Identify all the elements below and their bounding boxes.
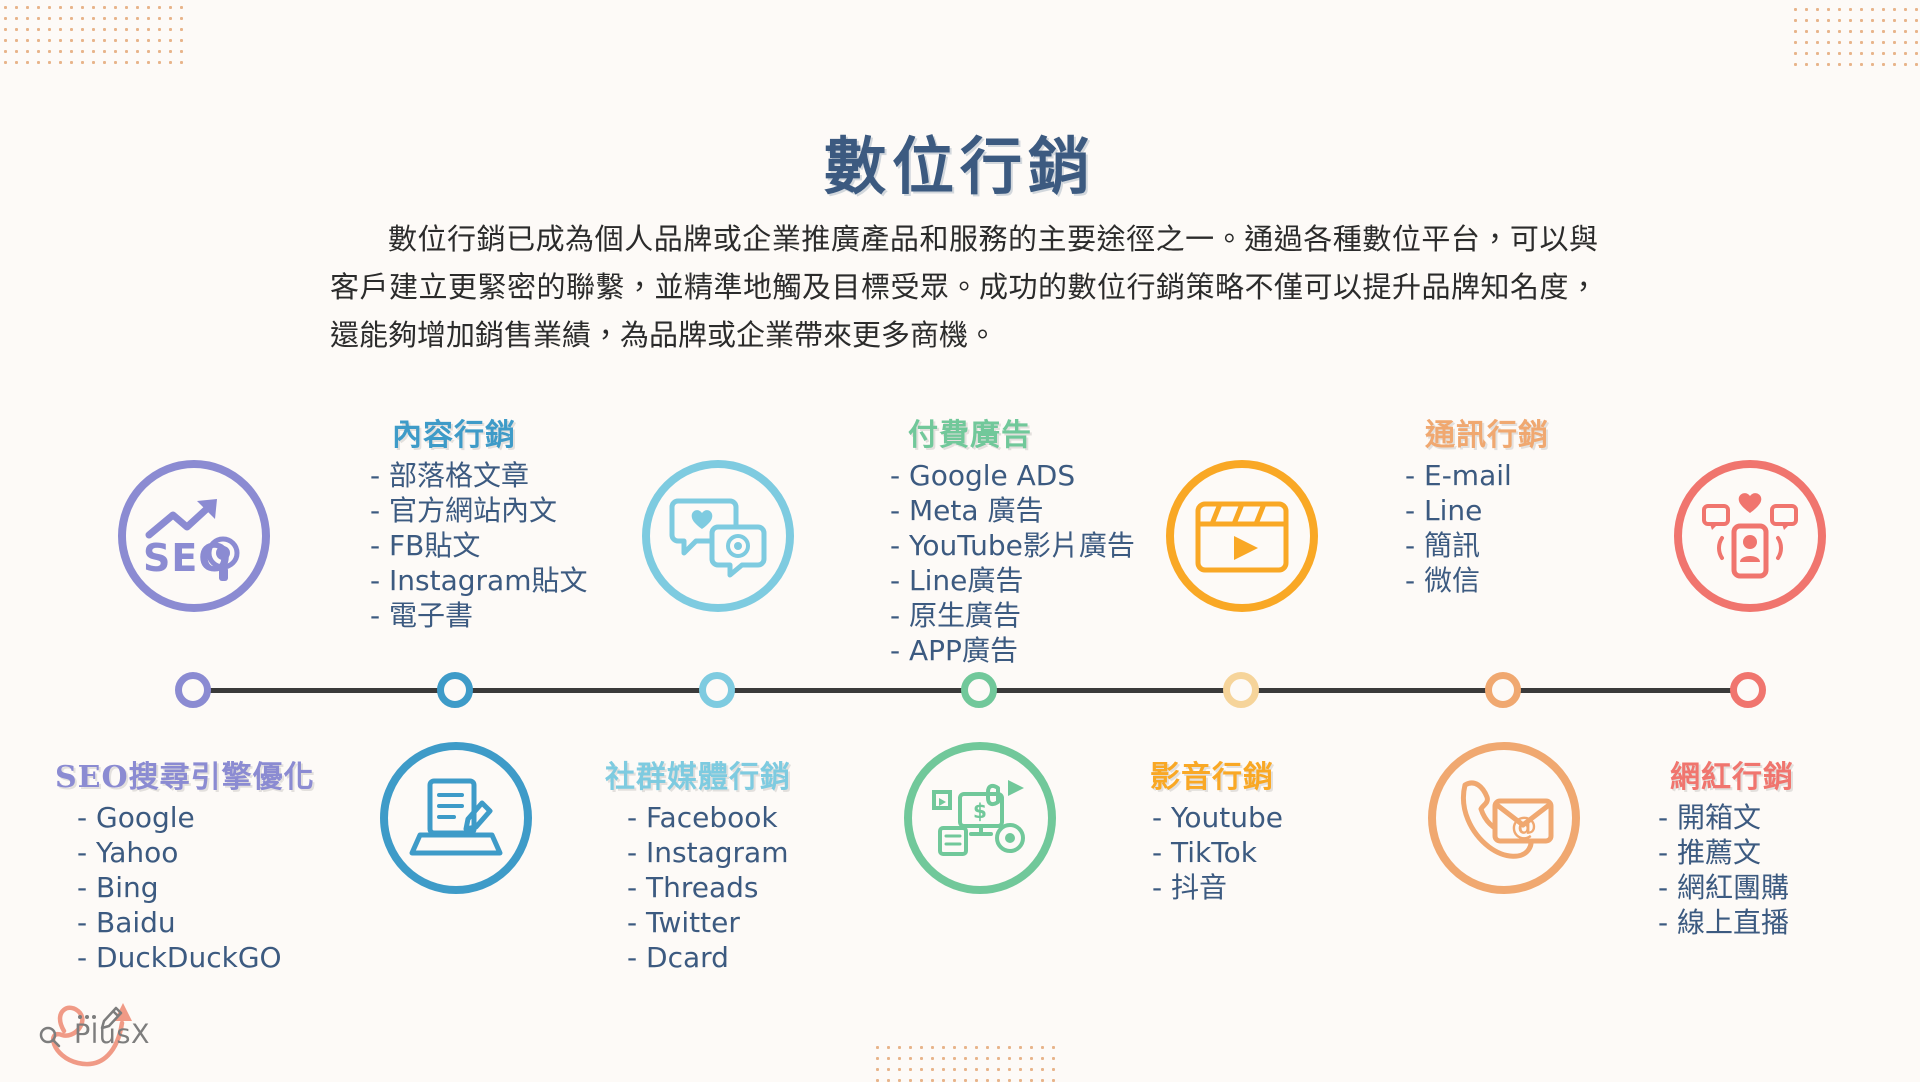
timeline-node-video[interactable] (1223, 672, 1259, 708)
timeline-node-seo[interactable] (175, 672, 211, 708)
list-item: 推薦文 (1650, 835, 1794, 870)
intro-paragraph: 數位行銷已成為個人品牌或企業推廣產品和服務的主要途徑之一。通過各種數位平台，可以… (330, 215, 1598, 359)
pin-social[interactable] (642, 460, 794, 612)
list-item: Facebook (605, 800, 791, 835)
drop-messaging[interactable]: @ (1428, 742, 1580, 894)
list-item: Line廣告 (890, 563, 1135, 598)
section-seo: SEO搜尋引擎優化 Google Yahoo Bing Baidu DuckDu… (55, 752, 315, 975)
list-item: Youtube (1150, 800, 1283, 835)
list-item: 線上直播 (1650, 905, 1794, 940)
section-heading-video: 影音行銷 (1150, 752, 1283, 796)
drop-paid-ads[interactable]: $ (904, 742, 1056, 894)
section-heading-messaging: 通訊行銷 (1405, 410, 1549, 454)
section-list-content: 部落格文章 官方網站內文 FB貼文 Instagram貼文 電子書 (370, 458, 587, 633)
logo-wordmark: PlusX (74, 1019, 150, 1050)
timeline-node-content[interactable] (437, 672, 473, 708)
list-item: 微信 (1405, 563, 1549, 598)
list-item: Bing (55, 870, 315, 905)
section-list-video: Youtube TikTok 抖音 (1150, 800, 1283, 905)
timeline-node-social[interactable] (699, 672, 735, 708)
phone-envelope-at-icon: @ (1449, 773, 1559, 863)
list-item: 抖音 (1150, 870, 1283, 905)
phone-person-chat-icon (1698, 490, 1802, 582)
page-title: 數位行銷 (0, 116, 1920, 206)
list-item: Threads (605, 870, 791, 905)
dot-pattern-top-right (1790, 4, 1920, 66)
laptop-document-pen-icon (406, 773, 506, 863)
section-social: 社群媒體行銷 Facebook Instagram Threads Twitte… (605, 752, 791, 975)
dot-pattern-top-left (0, 2, 190, 64)
section-heading-seo: SEO搜尋引擎優化 (55, 752, 315, 796)
seo-chart-magnifier-icon: SEO (139, 491, 249, 581)
list-item: Dcard (605, 940, 791, 975)
section-list-messaging: E-mail Line 簡訊 微信 (1405, 458, 1549, 598)
pin-seo[interactable]: SEO (118, 460, 270, 612)
timeline-node-messaging[interactable] (1485, 672, 1521, 708)
chat-bubbles-heart-icon (668, 493, 768, 579)
list-item: Twitter (605, 905, 791, 940)
section-heading-content: 內容行銷 (370, 410, 587, 454)
svg-text:$: $ (973, 799, 987, 823)
section-heading-paid-ads: 付費廣告 (890, 410, 1135, 454)
section-list-seo: Google Yahoo Bing Baidu DuckDuckGO (55, 800, 315, 975)
list-item: Line (1405, 493, 1549, 528)
list-item: Instagram貼文 (370, 563, 587, 598)
list-item: E-mail (1405, 458, 1549, 493)
pin-video[interactable] (1166, 460, 1318, 612)
list-item: 網紅團購 (1650, 870, 1794, 905)
ads-megaphone-screen-icon: $ (928, 772, 1032, 864)
section-influencer: 網紅行銷 開箱文 推薦文 網紅團購 線上直播 (1650, 752, 1794, 940)
list-item: YouTube影片廣告 (890, 528, 1135, 563)
list-item: Baidu (55, 905, 315, 940)
list-item: 原生廣告 (890, 598, 1135, 633)
section-video: 影音行銷 Youtube TikTok 抖音 (1150, 752, 1283, 905)
list-item: APP廣告 (890, 633, 1135, 668)
list-item: 開箱文 (1650, 800, 1794, 835)
section-list-influencer: 開箱文 推薦文 網紅團購 線上直播 (1650, 800, 1794, 940)
list-item: Google ADS (890, 458, 1135, 493)
list-item: Google (55, 800, 315, 835)
video-player-clapper-icon (1190, 494, 1294, 578)
list-item: Instagram (605, 835, 791, 870)
section-heading-social: 社群媒體行銷 (605, 752, 791, 796)
list-item: TikTok (1150, 835, 1283, 870)
drop-content[interactable] (380, 742, 532, 894)
timeline-node-influencer[interactable] (1730, 672, 1766, 708)
section-heading-influencer: 網紅行銷 (1650, 752, 1794, 796)
plusx-logo[interactable]: PlusX (22, 995, 172, 1073)
section-messaging: 通訊行銷 E-mail Line 簡訊 微信 (1405, 410, 1549, 598)
list-item: 官方網站內文 (370, 493, 587, 528)
section-content: 內容行銷 部落格文章 官方網站內文 FB貼文 Instagram貼文 電子書 (370, 410, 587, 633)
dot-pattern-bottom (872, 1042, 1062, 1082)
timeline-node-paid-ads[interactable] (961, 672, 997, 708)
list-item: 簡訊 (1405, 528, 1549, 563)
svg-text:@: @ (1511, 812, 1537, 842)
section-paid-ads: 付費廣告 Google ADS Meta 廣告 YouTube影片廣告 Line… (890, 410, 1135, 668)
list-item: DuckDuckGO (55, 940, 315, 975)
section-list-social: Facebook Instagram Threads Twitter Dcard (605, 800, 791, 975)
section-list-paid-ads: Google ADS Meta 廣告 YouTube影片廣告 Line廣告 原生… (890, 458, 1135, 668)
list-item: 部落格文章 (370, 458, 587, 493)
list-item: FB貼文 (370, 528, 587, 563)
list-item: Meta 廣告 (890, 493, 1135, 528)
pin-influencer[interactable] (1674, 460, 1826, 612)
list-item: Yahoo (55, 835, 315, 870)
list-item: 電子書 (370, 598, 587, 633)
